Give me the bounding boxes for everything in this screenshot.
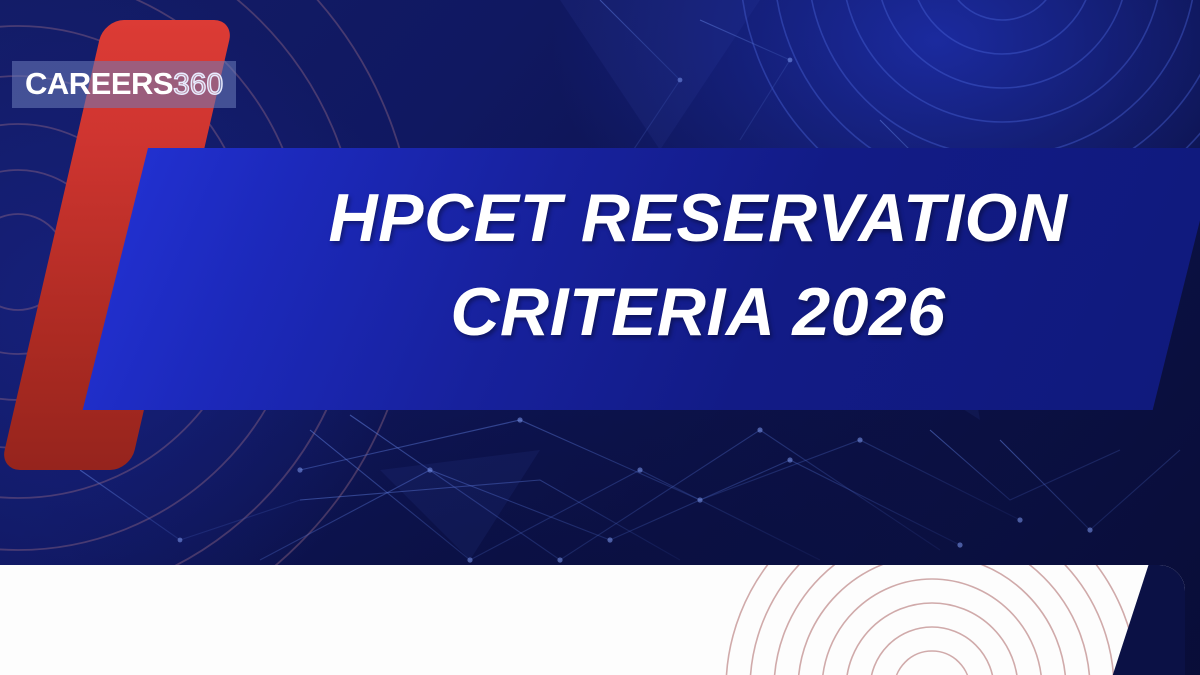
banner-graphic: CAREERS 360 HPCET RESERVATION CRITERIA 2… — [0, 0, 1200, 675]
concentric-arcs-bottom — [0, 565, 1185, 675]
page-title: HPCET RESERVATION CRITERIA 2026 — [218, 172, 1178, 360]
careers360-logo[interactable]: CAREERS 360 — [12, 61, 236, 108]
logo-careers-text: CAREERS — [25, 68, 173, 99]
logo-360-text: 360 — [173, 70, 223, 100]
bottom-white-band — [0, 565, 1185, 675]
